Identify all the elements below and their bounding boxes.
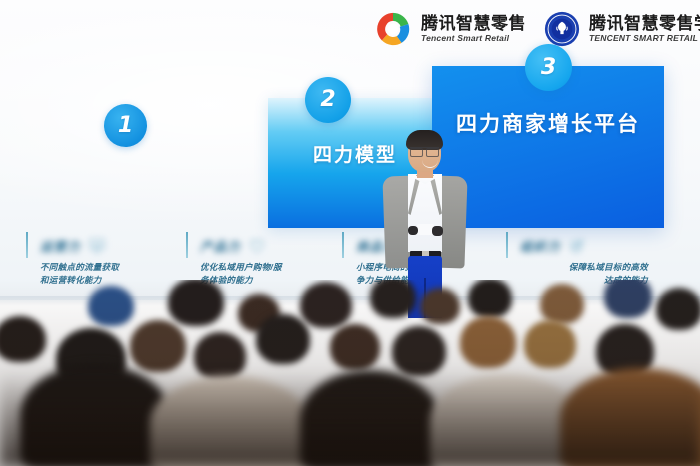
pillar-header: 产品力 bbox=[200, 236, 266, 255]
logo-english-name: Tencent Smart Retail bbox=[421, 34, 526, 43]
pillar-title: 运营力 bbox=[40, 236, 81, 255]
slide-logo-bar: 腾讯智慧零售 Tencent Smart Retail 腾讯智慧零售学堂 TEN… bbox=[374, 7, 696, 51]
speaker-hand-right bbox=[432, 226, 443, 236]
pillar-header: 运营力 bbox=[40, 236, 106, 255]
slide-card-1-badge: 1 bbox=[104, 104, 147, 147]
card-3-number: 3 bbox=[541, 57, 556, 79]
tencent-smart-retail-wordmark: 腾讯智慧零售 Tencent Smart Retail bbox=[421, 15, 526, 43]
pillar-title: 产品力 bbox=[200, 236, 241, 255]
institute-english-name: TENCENT SMART RETAIL INSTITUTE bbox=[589, 34, 700, 43]
speaker-shirt bbox=[408, 174, 442, 252]
institute-chinese-name: 腾讯智慧零售学堂 bbox=[589, 15, 700, 32]
card-1-number: 1 bbox=[118, 115, 133, 137]
institute-seal-logo-icon bbox=[544, 11, 580, 47]
conference-stage-scene: 腾讯智慧零售 Tencent Smart Retail 腾讯智慧零售学堂 TEN… bbox=[0, 0, 700, 466]
target-icon bbox=[568, 238, 586, 254]
institute-wordmark: 腾讯智慧零售学堂 TENCENT SMART RETAIL INSTITUTE bbox=[589, 15, 700, 43]
presentation-chart-icon bbox=[88, 238, 106, 254]
audience-foreground bbox=[0, 280, 700, 466]
pillar-divider-rule bbox=[506, 232, 508, 258]
logo-chinese-name: 腾讯智慧零售 bbox=[421, 15, 526, 32]
pillar-title: 组织力 bbox=[520, 236, 561, 255]
speaker-hand-left bbox=[408, 226, 418, 235]
pillar-divider-rule bbox=[26, 232, 28, 258]
glasses-icon bbox=[410, 147, 439, 155]
pillar-divider-rule bbox=[342, 232, 344, 258]
heart-icon bbox=[248, 238, 266, 254]
slide-card-3-badge: 3 bbox=[525, 44, 572, 91]
pillar-header: 组织力 bbox=[520, 236, 586, 255]
card-2-number: 2 bbox=[320, 89, 335, 111]
tencent-swirl-logo-icon bbox=[374, 10, 412, 48]
slide-card-2-badge: 2 bbox=[305, 77, 351, 123]
pillar-divider-rule bbox=[186, 232, 188, 258]
audience-depth-shading bbox=[0, 280, 700, 466]
